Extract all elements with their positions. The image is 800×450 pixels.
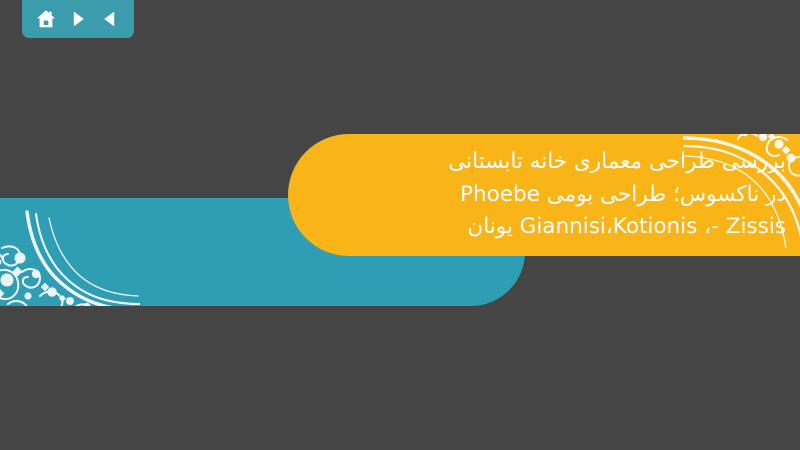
arabesque-corner-ornament-mirrored-icon <box>0 200 140 306</box>
slide-title-banner: بررسی طراحی معماری خانه تابستانی در ناکس… <box>288 134 800 256</box>
slide-navigation-bar <box>22 0 134 38</box>
title-line-1: بررسی طراحی معماری خانه تابستانی <box>314 146 786 179</box>
previous-slide-button[interactable] <box>97 6 123 32</box>
slide-stage: بررسی طراحی معماری خانه تابستانی در ناکس… <box>0 0 800 450</box>
page-title: بررسی طراحی معماری خانه تابستانی در ناکس… <box>288 146 800 244</box>
home-icon <box>36 9 56 29</box>
triangle-left-icon <box>101 10 119 28</box>
home-button[interactable] <box>33 6 59 32</box>
next-slide-button[interactable] <box>65 6 91 32</box>
title-line-2: در ناکسوس؛ طراحی بومی Phoebe <box>314 179 786 212</box>
triangle-right-icon <box>69 10 87 28</box>
title-line-3: Giannisi،Kotionis ،- Zissis یونان <box>314 211 786 244</box>
